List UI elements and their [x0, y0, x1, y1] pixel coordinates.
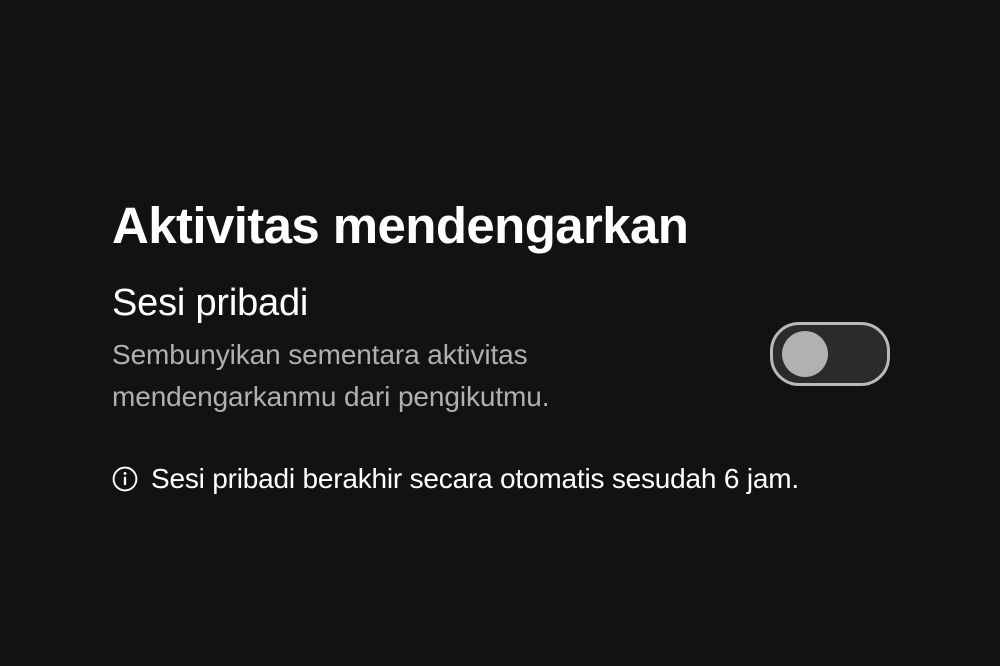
settings-screen: Aktivitas mendengarkan Sesi pribadi Semb… [0, 0, 1000, 666]
setting-heading-private-session: Sesi pribadi [112, 280, 657, 326]
setting-text-block: Sesi pribadi Sembunyikan sementara aktiv… [112, 280, 657, 418]
setting-description: Sembunyikan sementara aktivitas mendenga… [112, 334, 657, 418]
toggle-container [770, 322, 890, 386]
setting-description-line-2: mendengarkanmu dari pengikutmu. [112, 381, 549, 412]
page-title: Aktivitas mendengarkan [112, 197, 688, 255]
info-circle-icon [112, 466, 138, 492]
toggle-knob [782, 331, 828, 377]
private-session-toggle[interactable] [770, 322, 890, 386]
setting-description-line-1: Sembunyikan sementara aktivitas [112, 339, 528, 370]
info-note-text: Sesi pribadi berakhir secara otomatis se… [151, 462, 799, 496]
info-note: Sesi pribadi berakhir secara otomatis se… [112, 462, 799, 496]
private-session-setting-row: Sesi pribadi Sembunyikan sementara aktiv… [112, 280, 902, 418]
